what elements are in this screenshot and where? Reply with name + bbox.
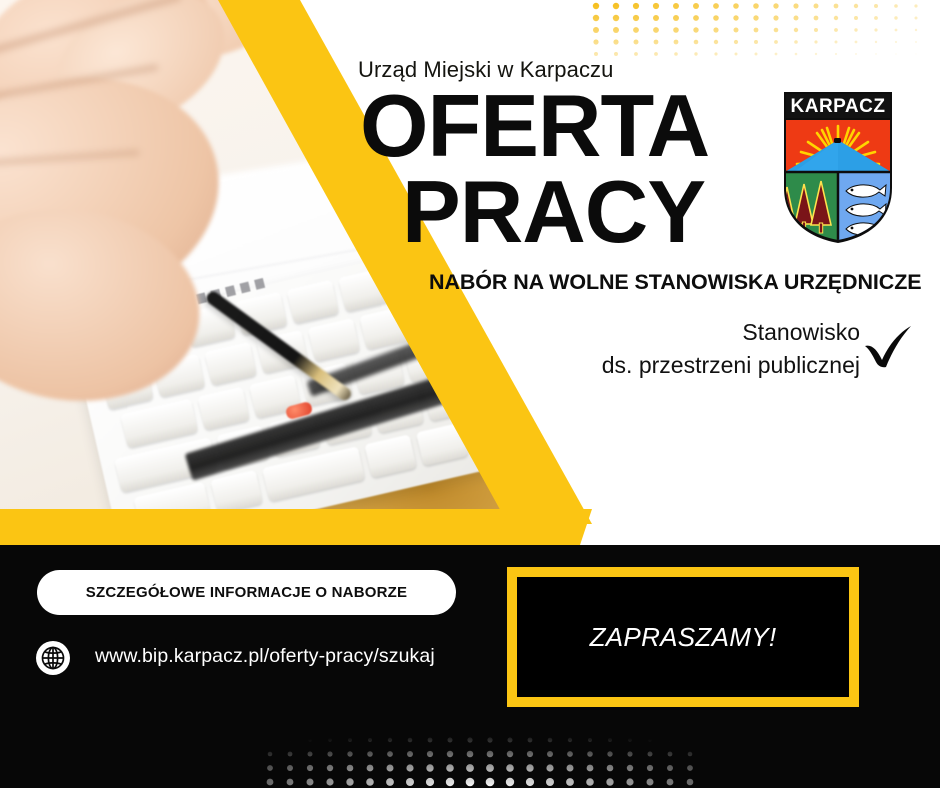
website-url[interactable]: www.bip.karpacz.pl/oferty-pracy/szukaj	[95, 645, 435, 668]
headline-line-2: PRACY	[402, 170, 705, 254]
invitation-box: ZAPRASZAMY!	[507, 567, 859, 707]
details-button[interactable]: SZCZEGÓŁOWE INFORMACJE O NABORZE	[37, 570, 456, 615]
subheadline: NABÓR NA WOLNE STANOWISKA URZĘDNICZE	[429, 270, 921, 295]
halftone-dots-bottom	[255, 716, 705, 788]
invitation-label: ZAPRASZAMY!	[590, 622, 777, 653]
position-line-2: ds. przestrzeni publicznej	[430, 349, 860, 382]
crest-banner-text: KARPACZ	[791, 96, 886, 117]
headline-line-1: OFERTA	[360, 84, 709, 168]
position-title: Stanowisko ds. przestrzeni publicznej	[430, 316, 860, 383]
details-button-label: SZCZEGÓŁOWE INFORMACJE O NABORZE	[86, 584, 407, 601]
globe-icon	[35, 640, 71, 676]
poster-top-section: Urząd Miejski w Karpaczu OFERTA PRACY NA…	[0, 0, 940, 545]
check-icon	[862, 322, 914, 370]
karpacz-coat-of-arms: KARPACZ	[778, 88, 898, 246]
job-offer-poster: Urząd Miejski w Karpaczu OFERTA PRACY NA…	[0, 0, 940, 788]
position-line-1: Stanowisko	[430, 316, 860, 349]
photo-hand	[0, 0, 360, 390]
halftone-dots-top	[588, 0, 940, 64]
